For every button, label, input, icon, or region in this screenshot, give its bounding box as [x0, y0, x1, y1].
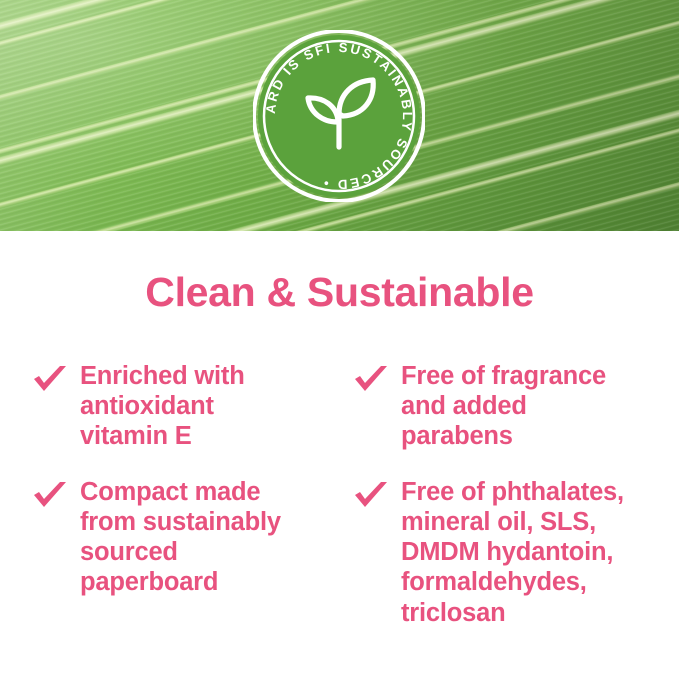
list-item: Compact made from sustainably sourced pa…	[30, 477, 350, 597]
content-panel: Clean & Sustainable Enriched with antiox…	[0, 231, 679, 679]
list-item: Free of fragrance and added parabens	[351, 361, 679, 451]
check-icon-glyph	[355, 366, 387, 391]
check-icon	[32, 481, 68, 513]
check-icon	[32, 365, 68, 397]
check-icon-glyph	[34, 482, 66, 507]
list-item-label: Compact made from sustainably sourced pa…	[80, 477, 350, 597]
leaf-photo-banner: ALL PAPERBOARD IS SFI SUSTAINABLY SOURCE…	[0, 0, 679, 231]
feature-column-left: Enriched with antioxidant vitamin E Comp…	[30, 361, 350, 624]
page-title: Clean & Sustainable	[0, 272, 679, 313]
list-item-label: Free of fragrance and added parabens	[401, 361, 679, 451]
list-item: Enriched with antioxidant vitamin E	[30, 361, 350, 451]
list-item: Free of phthalates, mineral oil, SLS, DM…	[351, 477, 679, 627]
list-item-label: Free of phthalates, mineral oil, SLS, DM…	[401, 477, 679, 627]
list-item-label: Enriched with antioxidant vitamin E	[80, 361, 350, 451]
check-icon	[353, 365, 389, 397]
check-icon-glyph	[355, 482, 387, 507]
feature-column-right: Free of fragrance and added parabens Fre…	[351, 361, 679, 654]
sfi-sustainability-badge: ALL PAPERBOARD IS SFI SUSTAINABLY SOURCE…	[253, 30, 425, 202]
check-icon-glyph	[34, 366, 66, 391]
check-icon	[353, 481, 389, 513]
